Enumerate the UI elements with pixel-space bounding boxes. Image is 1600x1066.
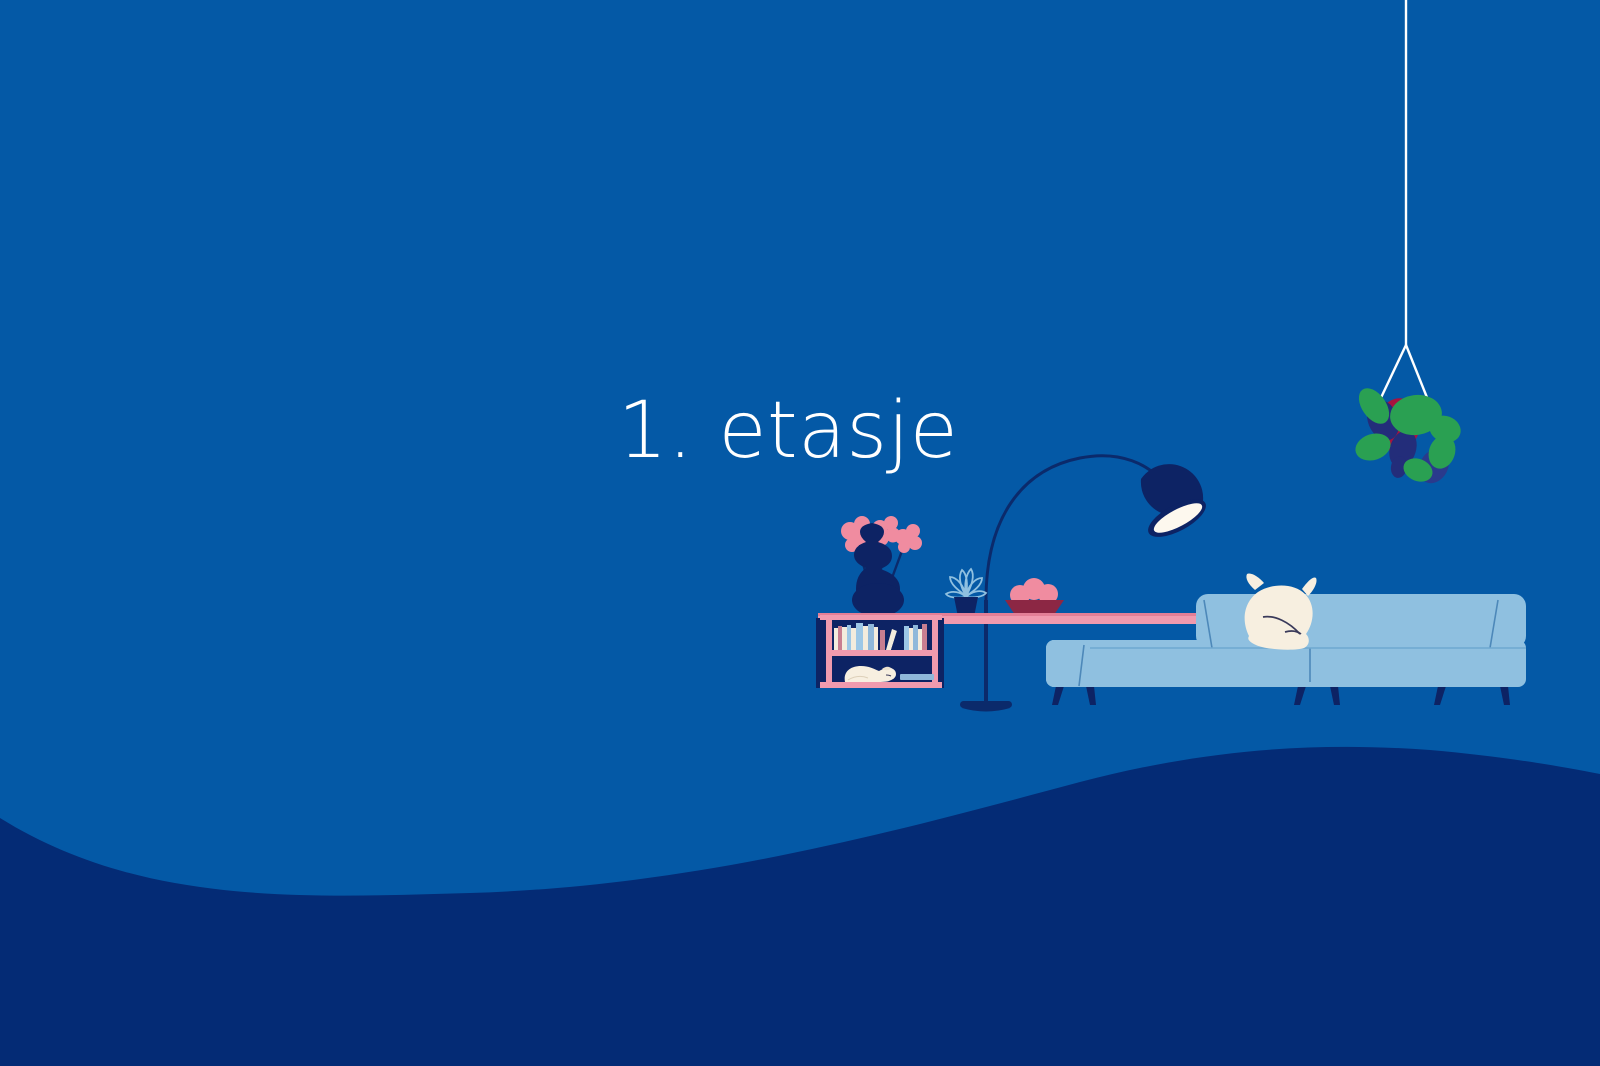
- bookshelf-frame-mid-shelf: [826, 650, 938, 656]
- bookshelf-frame-bottom: [820, 682, 942, 688]
- bookshelf-frame-top: [820, 615, 942, 620]
- page-title: 1. etasje: [0, 392, 1588, 470]
- bookshelf: [816, 615, 944, 688]
- bookshelf-side-left-dark: [816, 618, 826, 688]
- arc-lamp-base-bar: [960, 701, 1012, 708]
- vase-base: [852, 583, 904, 617]
- fruit-bowl-vessel: [1005, 600, 1064, 615]
- slide-root: 1. etasje: [0, 0, 1600, 1066]
- sleeping-dog: [845, 666, 896, 682]
- bookshelf-lower-item: [900, 674, 934, 680]
- living-room-illustration: [0, 0, 1600, 1066]
